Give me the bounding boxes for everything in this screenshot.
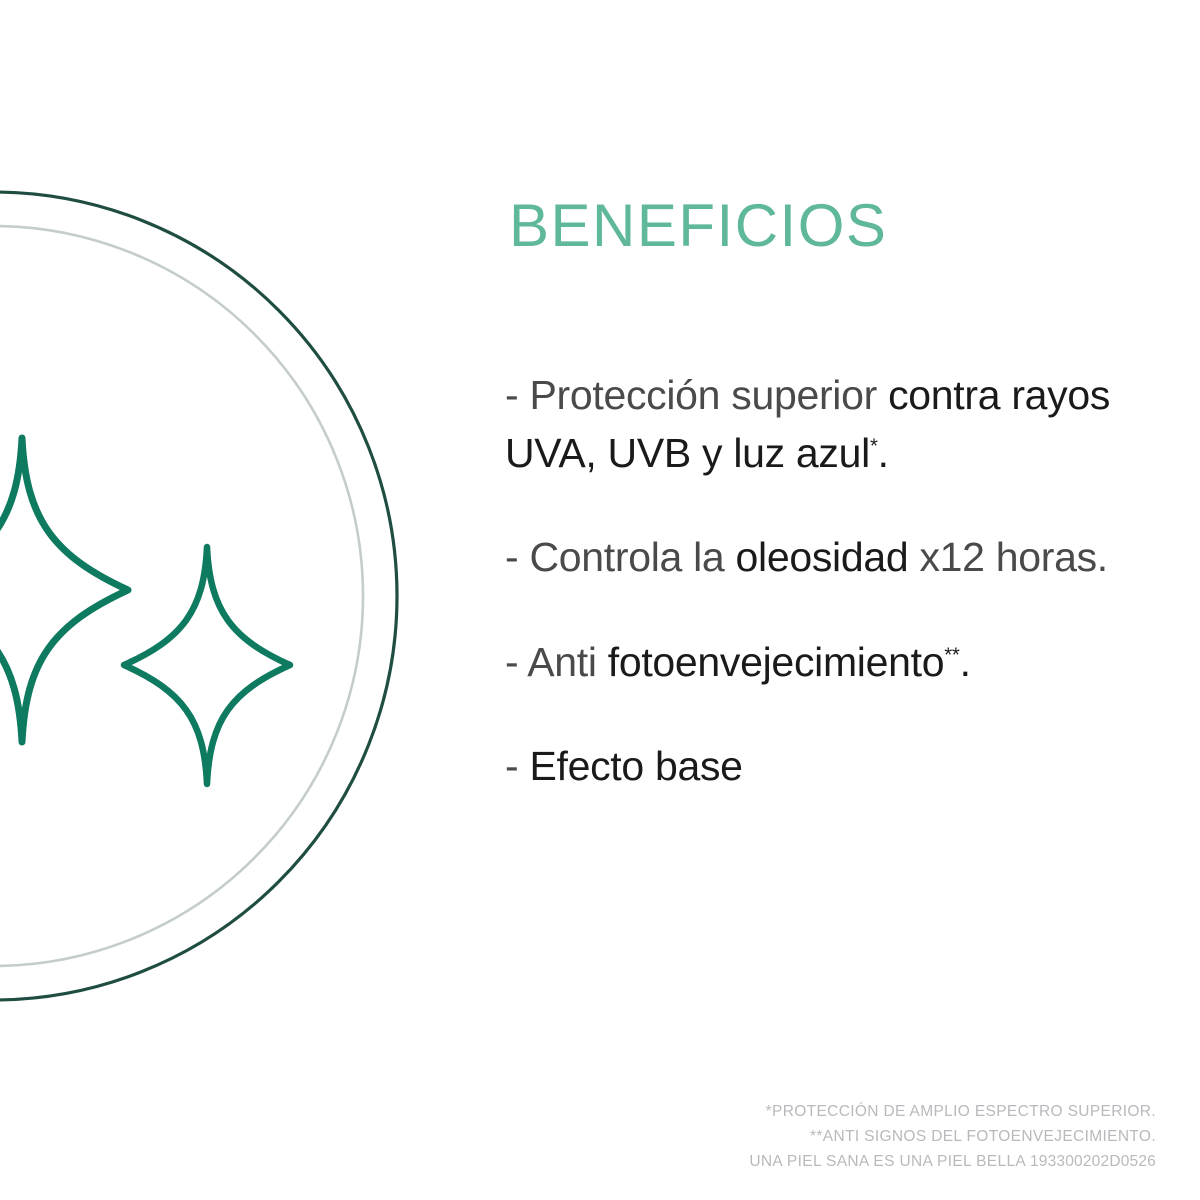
benefit-bullet: -	[505, 639, 518, 685]
benefit-highlight-text: fotoenvejecimiento	[608, 639, 944, 685]
benefit-highlight-text: Efecto base	[529, 743, 742, 789]
legal-footer: *PROTECCIÓN DE AMPLIO ESPECTRO SUPERIOR.…	[749, 1099, 1156, 1174]
legal-line-1: *PROTECCIÓN DE AMPLIO ESPECTRO SUPERIOR.	[749, 1099, 1156, 1124]
benefit-highlight-text: oleosidad	[736, 534, 909, 580]
sparkle-icon-2	[124, 547, 290, 784]
benefit-tail-text: .	[960, 639, 971, 685]
benefit-item-proteccion: - Protección superior contra rayos UVA, …	[505, 366, 1165, 482]
legal-line-3-text: UNA PIEL SANA ES UNA PIEL BELLA	[749, 1153, 1025, 1170]
legal-product-code: 193300202D0526	[1030, 1153, 1156, 1170]
benefit-lead-text	[518, 743, 529, 789]
benefit-tail-text: .	[878, 430, 889, 476]
footnote-marker: **	[944, 643, 959, 666]
legal-line-3: UNA PIEL SANA ES UNA PIEL BELLA 19330020…	[749, 1149, 1156, 1174]
benefit-item-oleosidad: - Controla la oleosidad x12 horas.	[505, 528, 1165, 586]
footnote-marker: *	[870, 435, 878, 458]
benefit-tail-text: x12 horas.	[908, 534, 1108, 580]
benefit-item-efecto-base: - Efecto base	[505, 737, 1165, 795]
benefit-lead-text: Controla la	[518, 534, 735, 580]
legal-line-2: **ANTI SIGNOS DEL FOTOENVEJECIMIENTO.	[749, 1124, 1156, 1149]
benefit-item-fotoenvejecimiento: - Anti fotoenvejecimiento**.	[505, 633, 1165, 691]
content-panel: BENEFICIOS - Protección superior contra …	[505, 196, 1165, 256]
benefit-bullet: -	[505, 743, 518, 789]
decorative-circle-graphic	[0, 0, 480, 1200]
benefit-bullet: -	[505, 372, 518, 418]
outer-circle	[0, 192, 397, 1000]
sparkle-icon-1	[0, 438, 128, 742]
benefit-lead-text: Protección superior	[518, 372, 888, 418]
page-title: BENEFICIOS	[509, 196, 1165, 256]
benefit-bullet: -	[505, 534, 518, 580]
benefits-list: - Protección superior contra rayos UVA, …	[505, 366, 1165, 795]
inner-circle	[0, 226, 363, 966]
benefit-lead-text: Anti	[518, 639, 607, 685]
